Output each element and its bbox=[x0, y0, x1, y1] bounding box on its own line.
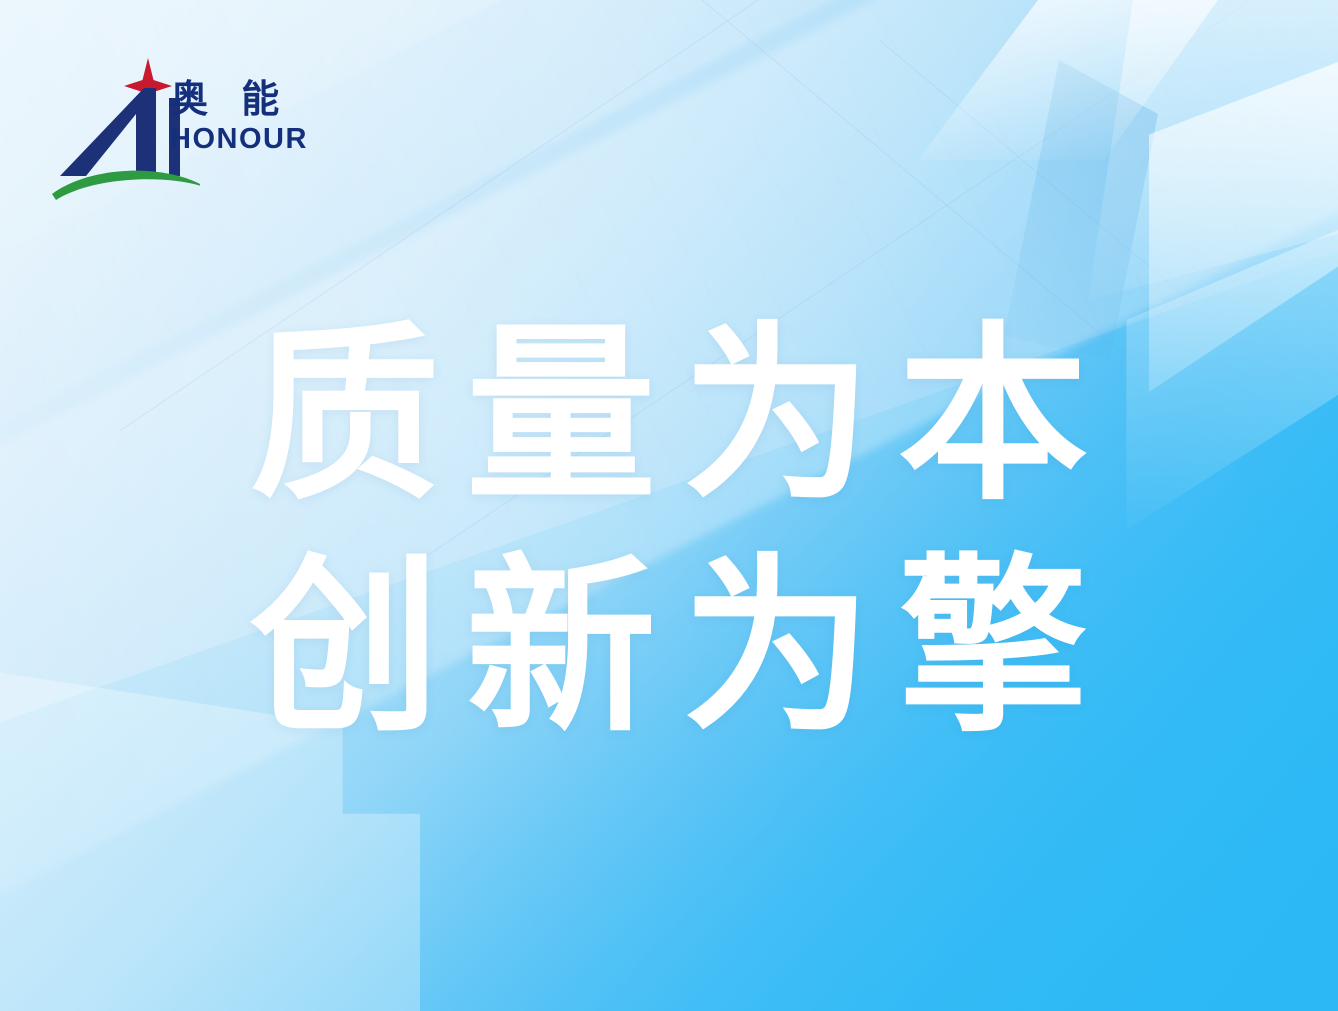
headline-line-1: 质量为本 bbox=[0, 300, 1338, 532]
brand-chinese-name: 奥 能 bbox=[170, 80, 320, 118]
logo-wordmark: 奥 能 HONOUR bbox=[170, 80, 320, 154]
brand-english-name: HONOUR bbox=[170, 125, 320, 154]
a-mark-shape bbox=[60, 88, 156, 176]
headline-line-2: 创新为擎 bbox=[0, 532, 1338, 764]
headline-block: 质量为本 创新为擎 bbox=[0, 300, 1338, 764]
facet-panel-right-top bbox=[1088, 0, 1338, 300]
facet-panel-top-edge bbox=[918, 0, 1218, 160]
brand-logo[interactable]: 奥 能 HONOUR bbox=[52, 52, 314, 202]
brand-banner: 奥 能 HONOUR 质量为本 创新为擎 bbox=[0, 0, 1338, 1011]
